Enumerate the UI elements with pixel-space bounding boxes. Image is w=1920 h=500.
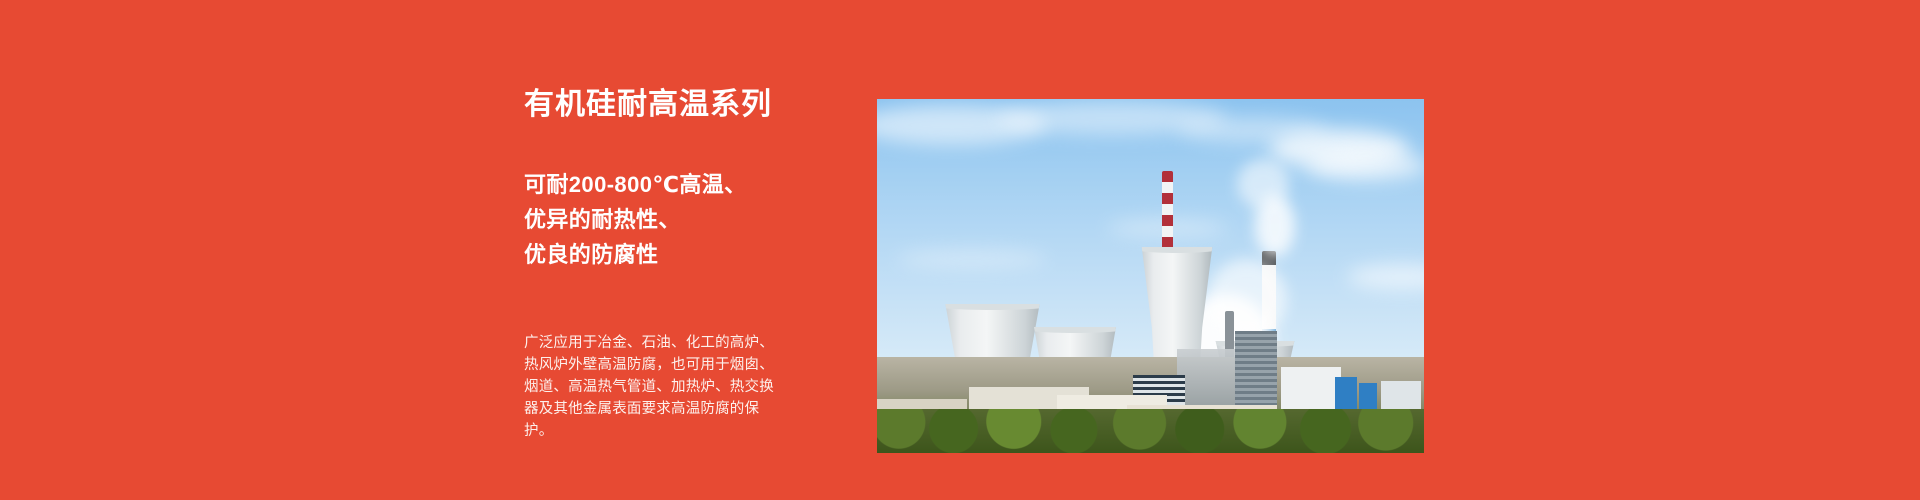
feature-line-3: 优良的防腐性 bbox=[524, 237, 747, 272]
promo-banner: 有机硅耐高温系列 可耐200-800℃高温、 优异的耐热性、 优良的防腐性 广泛… bbox=[0, 0, 1920, 500]
feature-list: 可耐200-800℃高温、 优异的耐热性、 优良的防腐性 bbox=[524, 167, 747, 272]
industrial-plant-building bbox=[1281, 367, 1341, 413]
cloud-icon bbox=[1307, 151, 1424, 181]
banner-text-column: 有机硅耐高温系列 可耐200-800℃高温、 优异的耐热性、 优良的防腐性 广泛… bbox=[524, 0, 864, 500]
steam-plume bbox=[1207, 259, 1287, 339]
cloud-icon bbox=[897, 249, 1047, 269]
feature-line-2: 优异的耐热性、 bbox=[524, 202, 747, 237]
industrial-plant-building bbox=[1235, 331, 1277, 409]
description-paragraph: 广泛应用于冶金、石油、化工的高炉、热风炉外壁高温防腐，也可用于烟囱、烟道、高温热… bbox=[524, 332, 786, 442]
treeline bbox=[877, 409, 1424, 453]
page-title: 有机硅耐高温系列 bbox=[524, 79, 772, 123]
steam-plume bbox=[1237, 159, 1289, 209]
feature-line-1: 可耐200-800℃高温、 bbox=[524, 167, 747, 202]
power-plant-photo bbox=[877, 99, 1424, 453]
